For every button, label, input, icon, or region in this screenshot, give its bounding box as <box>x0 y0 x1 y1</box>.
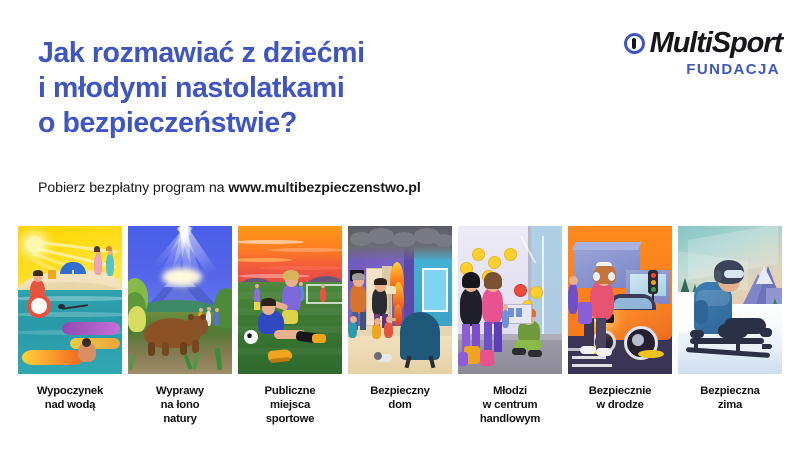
caption-bezpieczny-dom: Bezpieczny dom <box>348 384 452 426</box>
caption-line: Młodzi <box>458 384 562 398</box>
caption-line: zima <box>678 398 782 412</box>
caption-line: Wyprawy <box>128 384 232 398</box>
caption-line: w drodze <box>568 398 672 412</box>
caption-line: miejsca <box>238 398 342 412</box>
caption-line: nad wodą <box>18 398 122 412</box>
caption-bezpiecznie-w-drodze: Bezpiecznie w drodze <box>568 384 672 426</box>
logo-subtitle: FUNDACJA <box>582 61 782 78</box>
topic-caption-row: Wypoczynek nad wodą Wyprawy na łono natu… <box>18 384 782 426</box>
topic-card-wypoczynek-nad-woda[interactable] <box>18 226 122 374</box>
caption-line: natury <box>128 412 232 426</box>
illustration-football-injury <box>238 226 342 374</box>
topic-card-bezpieczna-zima[interactable] <box>678 226 782 374</box>
subtitle: Pobierz bezpłatny program na www.multibe… <box>38 180 421 196</box>
topic-card-publiczne-miejsca-sportowe[interactable] <box>238 226 342 374</box>
caption-line: Bezpiecznie <box>568 384 672 398</box>
caption-line: handlowym <box>458 412 562 426</box>
caption-line: sportowe <box>238 412 342 426</box>
topic-card-bezpiecznie-w-drodze[interactable] <box>568 226 672 374</box>
topic-card-strip <box>18 226 782 374</box>
caption-line: w centrum <box>458 398 562 412</box>
illustration-mall-bullying <box>458 226 562 374</box>
topic-card-mlodzi-w-centrum-handlowym[interactable] <box>458 226 562 374</box>
caption-line: Publiczne <box>238 384 342 398</box>
topic-card-wyprawy-na-lono-natury[interactable] <box>128 226 232 374</box>
illustration-road-crossing <box>568 226 672 374</box>
caption-line: Wypoczynek <box>18 384 122 398</box>
multisport-fundacja-logo: MultiSport FUNDACJA <box>582 26 782 88</box>
caption-publiczne-miejsca-sportowe: Publiczne miejsca sportowe <box>238 384 342 426</box>
program-url-link[interactable]: www.multibezpieczenstwo.pl <box>228 180 420 196</box>
page-title-line-1: Jak rozmawiać z dziećmi <box>38 36 558 71</box>
caption-line: Bezpieczny <box>348 384 452 398</box>
logo-wordmark: MultiSport <box>650 28 782 58</box>
page-title: Jak rozmawiać z dziećmi i młodymi nastol… <box>38 36 558 141</box>
illustration-mountain-bear <box>128 226 232 374</box>
caption-line: Bezpieczna <box>678 384 782 398</box>
caption-mlodzi-w-centrum-handlowym: Młodzi w centrum handlowym <box>458 384 562 426</box>
page-title-line-3: o bezpieczeństwie? <box>38 106 558 141</box>
illustration-beach-water <box>18 226 122 374</box>
multisport-circle-icon <box>624 33 645 54</box>
illustration-house-fire <box>348 226 452 374</box>
subtitle-text: Pobierz bezpłatny program na <box>38 180 228 196</box>
caption-bezpieczna-zima: Bezpieczna zima <box>678 384 782 426</box>
caption-line: dom <box>348 398 452 412</box>
header: Jak rozmawiać z dziećmi i młodymi nastol… <box>0 0 800 210</box>
caption-wyprawy-na-lono-natury: Wyprawy na łono natury <box>128 384 232 426</box>
caption-line: na łono <box>128 398 232 412</box>
illustration-winter-sled <box>678 226 782 374</box>
topic-card-bezpieczny-dom[interactable] <box>348 226 452 374</box>
page-title-line-2: i młodymi nastolatkami <box>38 71 558 106</box>
caption-wypoczynek-nad-woda: Wypoczynek nad wodą <box>18 384 122 426</box>
